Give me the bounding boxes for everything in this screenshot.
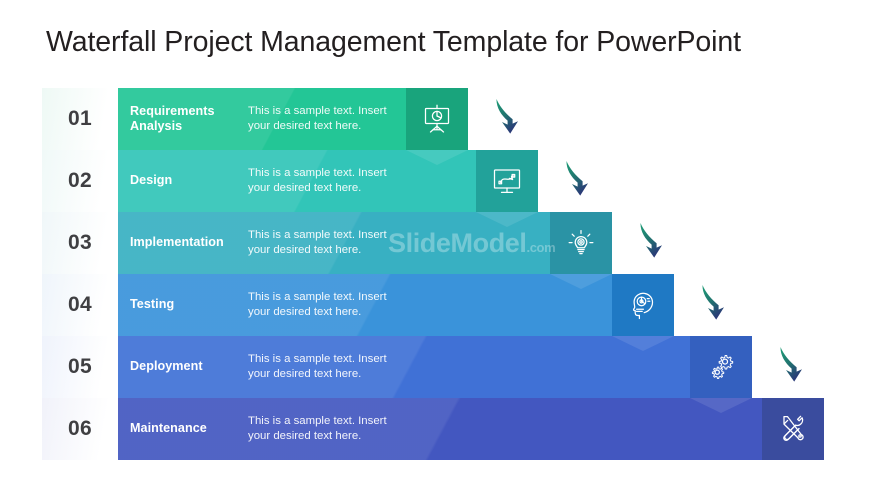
step-bar[interactable]: DeploymentThis is a sample text. Insert …	[118, 336, 752, 398]
step-number: 04	[68, 293, 92, 317]
step-label: Implementation	[130, 212, 252, 274]
step-description: This is a sample text. Insert your desir…	[248, 88, 408, 150]
step-description: This is a sample text. Insert your desir…	[248, 398, 408, 460]
step-number-cell: 04	[42, 274, 118, 336]
step-number: 02	[68, 169, 92, 193]
step-description: This is a sample text. Insert your desir…	[248, 212, 408, 274]
step-label: Requirements Analysis	[130, 88, 252, 150]
waterfall-step-row[interactable]: 05DeploymentThis is a sample text. Inser…	[0, 336, 870, 398]
step-number: 03	[68, 231, 92, 255]
waterfall-step-row[interactable]: 01Requirements AnalysisThis is a sample …	[0, 88, 870, 150]
presentation-chart-icon	[406, 88, 468, 150]
step-flow-arrow	[490, 94, 530, 138]
step-label: Design	[130, 150, 252, 212]
step-flow-arrow	[774, 342, 814, 386]
step-number-cell: 02	[42, 150, 118, 212]
monitor-design-icon	[476, 150, 538, 212]
step-number-cell: 03	[42, 212, 118, 274]
step-number: 01	[68, 107, 92, 131]
waterfall-step-row[interactable]: 06MaintenanceThis is a sample text. Inse…	[0, 398, 870, 460]
waterfall-step-row[interactable]: 03ImplementationThis is a sample text. I…	[0, 212, 870, 274]
waterfall-diagram: 01Requirements AnalysisThis is a sample …	[0, 0, 870, 489]
step-number: 06	[68, 417, 92, 441]
step-label: Deployment	[130, 336, 252, 398]
step-bar[interactable]: ImplementationThis is a sample text. Ins…	[118, 212, 612, 274]
slide-canvas: Waterfall Project Management Template fo…	[0, 0, 870, 489]
step-number-cell: 05	[42, 336, 118, 398]
head-brain-icon	[612, 274, 674, 336]
step-bar[interactable]: MaintenanceThis is a sample text. Insert…	[118, 398, 824, 460]
step-flow-arrow	[696, 280, 736, 324]
step-bar[interactable]: DesignThis is a sample text. Insert your…	[118, 150, 538, 212]
waterfall-step-row[interactable]: 04TestingThis is a sample text. Insert y…	[0, 274, 870, 336]
step-description: This is a sample text. Insert your desir…	[248, 336, 408, 398]
step-number: 05	[68, 355, 92, 379]
gears-icon	[690, 336, 752, 398]
step-label: Maintenance	[130, 398, 252, 460]
waterfall-step-row[interactable]: 02DesignThis is a sample text. Insert yo…	[0, 150, 870, 212]
wrench-screwdriver-icon	[762, 398, 824, 460]
step-number-cell: 06	[42, 398, 118, 460]
step-bar[interactable]: TestingThis is a sample text. Insert you…	[118, 274, 674, 336]
step-description: This is a sample text. Insert your desir…	[248, 150, 408, 212]
lightbulb-gear-icon	[550, 212, 612, 274]
step-flow-arrow	[560, 156, 600, 200]
step-label: Testing	[130, 274, 252, 336]
step-number-cell: 01	[42, 88, 118, 150]
step-flow-arrow	[634, 218, 674, 262]
step-description: This is a sample text. Insert your desir…	[248, 274, 408, 336]
